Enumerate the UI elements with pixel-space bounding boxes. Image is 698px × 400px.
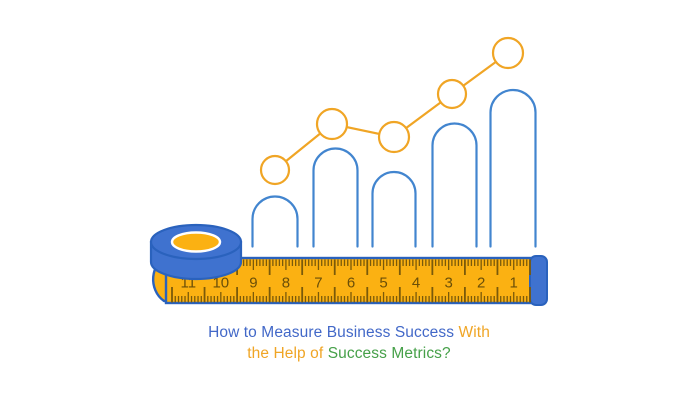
tape-number-9: 9 bbox=[249, 275, 257, 292]
tape-number-4: 4 bbox=[412, 275, 420, 292]
trend-marker-4 bbox=[438, 80, 466, 108]
tape-number-3: 3 bbox=[444, 275, 452, 292]
trend-marker-3 bbox=[379, 122, 409, 152]
tape-number-6: 6 bbox=[347, 275, 355, 292]
bar-4 bbox=[433, 124, 477, 247]
caption-line-2: the Help of Success Metrics? bbox=[0, 343, 698, 364]
caption-block: How to Measure Business Success With the… bbox=[0, 322, 698, 364]
bar-3 bbox=[373, 172, 416, 247]
trend-line-group bbox=[261, 38, 523, 184]
tape-number-2: 2 bbox=[477, 275, 485, 292]
trend-marker-5 bbox=[493, 38, 523, 68]
caption-line2-part1: the Help of bbox=[247, 345, 327, 362]
tape-number-5: 5 bbox=[379, 275, 387, 292]
bar-1 bbox=[253, 197, 298, 247]
tape-number-1: 1 bbox=[510, 275, 518, 292]
bar-chart-group bbox=[253, 90, 536, 247]
caption-line-1: How to Measure Business Success With bbox=[0, 322, 698, 343]
tape-number-7: 7 bbox=[314, 275, 322, 292]
caption-line1-part1: How to Measure Business Success bbox=[208, 324, 458, 341]
tape-end-cap bbox=[530, 256, 547, 305]
trend-marker-1 bbox=[261, 156, 289, 184]
tape-spool-hole bbox=[172, 233, 220, 252]
caption-line1-part2: With bbox=[459, 324, 490, 341]
trend-marker-2 bbox=[317, 109, 347, 139]
caption-line2-part2: Success Metrics? bbox=[328, 345, 451, 362]
bar-5 bbox=[491, 90, 536, 247]
bar-2 bbox=[314, 149, 358, 247]
measuring-tape-group: 1110987654321 bbox=[151, 225, 547, 305]
tape-number-8: 8 bbox=[282, 275, 290, 292]
